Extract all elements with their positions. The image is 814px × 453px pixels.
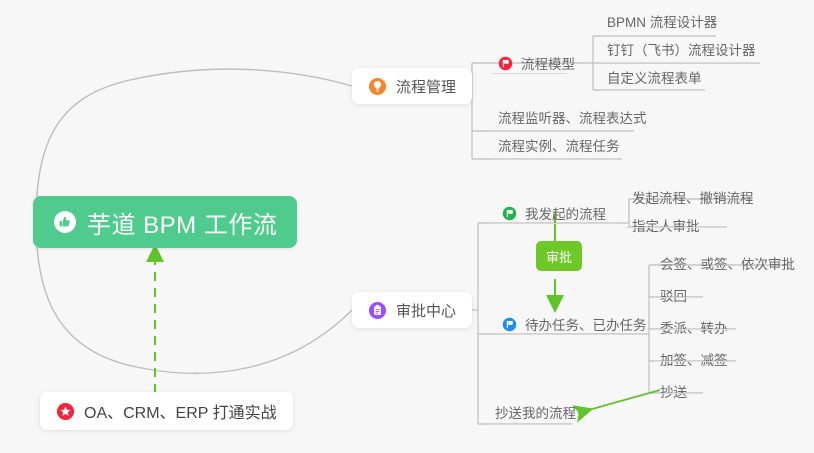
- branch-label: 审批中心: [396, 300, 456, 321]
- node-my-initiated[interactable]: 我发起的流程: [496, 202, 612, 224]
- root-label: 芋道 BPM 工作流: [87, 205, 277, 240]
- callout-label: OA、CRM、ERP 打通实战: [84, 399, 277, 423]
- underline-custom-form: [600, 90, 705, 91]
- node-label: 待办任务、已办任务: [525, 314, 647, 334]
- underline-delegate-transfer: [653, 329, 736, 330]
- node-label: 流程模型: [521, 53, 575, 73]
- underline-my-initiated: [495, 223, 619, 224]
- underline-todo-done-tasks: [495, 334, 639, 335]
- node-dingtalk-feishu-designer[interactable]: 钉钉（飞书）流程设计器: [601, 40, 762, 62]
- flag-icon: [502, 317, 517, 332]
- underline-bpmn-designer: [600, 35, 716, 36]
- branch-node-approval-center[interactable]: 审批中心: [352, 292, 472, 328]
- node-label: 指定人审批: [632, 215, 700, 235]
- node-label: 抄送: [660, 381, 687, 401]
- node-label: 自定义流程表单: [607, 67, 702, 87]
- node-bpmn-designer[interactable]: BPMN 流程设计器: [601, 12, 723, 34]
- node-label: BPMN 流程设计器: [607, 11, 717, 31]
- flag-icon: [502, 206, 517, 221]
- underline-instance-task: [491, 159, 622, 160]
- underline-dingtalk-designer: [600, 62, 760, 63]
- arrow-cc-to-cc-to-me: [578, 390, 660, 413]
- node-label: 流程监听器、流程表达式: [498, 107, 647, 127]
- callout-node-integration[interactable]: OA、CRM、ERP 打通实战: [40, 392, 293, 430]
- underline-add-remove-sign: [653, 361, 736, 362]
- underline-cc: [653, 393, 703, 394]
- node-label: 流程实例、流程任务: [498, 135, 620, 155]
- root-node[interactable]: 芋道 BPM 工作流: [33, 196, 297, 248]
- node-label: 会签、或签、依次审批: [660, 253, 795, 273]
- underline-process-model: [491, 73, 567, 74]
- underline-listener-expression: [491, 131, 634, 132]
- node-label: 钉钉（飞书）流程设计器: [607, 39, 756, 59]
- node-label: 委派、转办: [660, 317, 728, 337]
- node-listener-expression[interactable]: 流程监听器、流程表达式: [492, 108, 653, 130]
- underline-reject: [653, 297, 703, 298]
- mindmap-canvas: 芋道 BPM 工作流 OA、CRM、ERP 打通实战 流程管理: [0, 0, 814, 453]
- annotation-tag-approval[interactable]: 审批: [536, 241, 582, 271]
- node-instance-task[interactable]: 流程实例、流程任务: [492, 136, 626, 158]
- clipboard-icon: [368, 301, 387, 320]
- node-custom-process-form[interactable]: 自定义流程表单: [601, 68, 708, 90]
- node-todo-done-tasks[interactable]: 待办任务、已办任务: [496, 313, 653, 335]
- branch-label: 流程管理: [396, 76, 456, 97]
- node-label: 发起流程、撤销流程: [632, 187, 754, 207]
- thumbs-up-icon: [53, 210, 77, 234]
- node-label: 我发起的流程: [525, 203, 606, 223]
- flag-icon: [498, 56, 513, 71]
- node-process-model[interactable]: 流程模型: [492, 52, 581, 74]
- underline-assignee-approval: [625, 227, 727, 228]
- lightbulb-icon: [368, 77, 387, 96]
- node-cc-to-me[interactable]: 抄送我的流程: [489, 403, 582, 425]
- star-icon: [56, 402, 75, 421]
- node-label: 加签、减签: [660, 349, 728, 369]
- node-label: 驳回: [660, 285, 687, 305]
- branch-node-process-management[interactable]: 流程管理: [352, 68, 472, 104]
- underline-cc-to-me: [488, 424, 572, 425]
- node-label: 抄送我的流程: [495, 402, 576, 422]
- annotation-label: 审批: [546, 247, 572, 266]
